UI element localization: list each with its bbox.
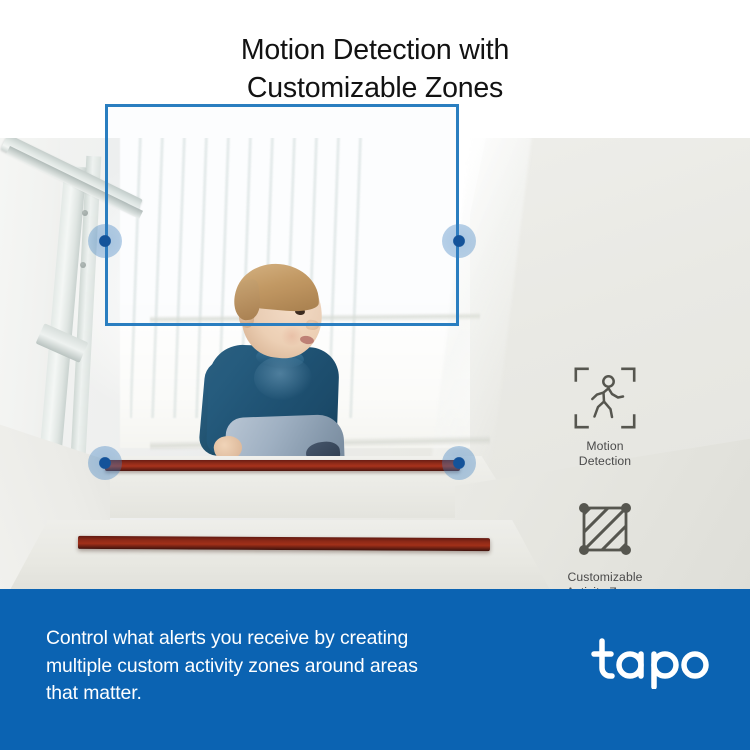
promo-page: Motion Detection with Customizable Zones [0, 0, 750, 750]
feature-list: Motion Detection [540, 366, 670, 589]
feature-customizable-zones[interactable]: Customizable Activity Zones [566, 497, 643, 589]
child-shoulder-highlight [254, 356, 312, 400]
motion-detection-icon [573, 366, 637, 430]
tapo-logo [591, 637, 713, 689]
zone-handle-top-right[interactable] [442, 224, 476, 258]
stair-nosing-lower [78, 536, 490, 551]
feature-motion-detection[interactable]: Motion Detection [573, 366, 637, 469]
zone-handle-bottom-left[interactable] [88, 446, 122, 480]
rail-screw-lower [80, 262, 86, 268]
zone-handle-top-left[interactable] [88, 224, 122, 258]
banner-description: Control what alerts you receive by creat… [46, 625, 516, 708]
stair-tread-lower [10, 520, 550, 589]
stair-nosing-upper [105, 460, 460, 471]
activity-zone-box[interactable] [105, 104, 459, 326]
page-title: Motion Detection with Customizable Zones [241, 31, 509, 107]
zone-handle-bottom-right[interactable] [442, 446, 476, 480]
feature-label: Customizable Activity Zones [566, 570, 643, 589]
customizable-activity-zones-icon [573, 497, 637, 561]
rail-screw-upper [82, 210, 88, 216]
feature-label: Motion Detection [579, 439, 631, 469]
